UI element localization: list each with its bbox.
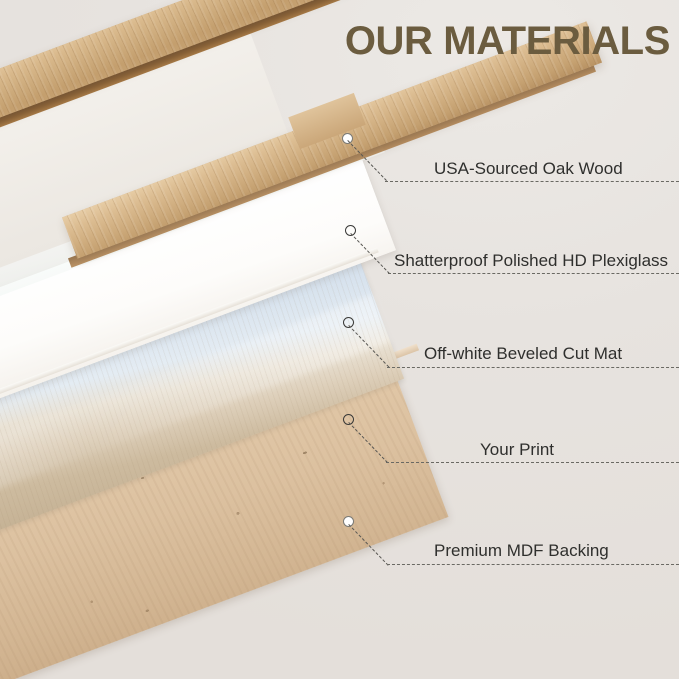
- callout-label: Off-white Beveled Cut Mat: [424, 345, 622, 362]
- callout-label: Your Print: [480, 441, 554, 458]
- page-title: OUR MATERIALS: [345, 21, 670, 61]
- callout-label: USA-Sourced Oak Wood: [434, 160, 623, 177]
- marker-dot-icon: [342, 133, 353, 144]
- leader-line-horizontal: [388, 273, 679, 274]
- leader-line-horizontal: [386, 462, 679, 463]
- callout-label: Premium MDF Backing: [434, 542, 609, 559]
- exploded-product-illustration: [0, 0, 679, 679]
- leader-line-horizontal: [387, 367, 679, 368]
- leader-line-horizontal: [387, 564, 679, 565]
- leader-line-horizontal: [385, 181, 679, 182]
- callout-label: Shatterproof Polished HD Plexiglass: [394, 252, 668, 269]
- product-materials-infographic: OUR MATERIALS USA-Sourced Oak Wood Shatt…: [0, 0, 679, 679]
